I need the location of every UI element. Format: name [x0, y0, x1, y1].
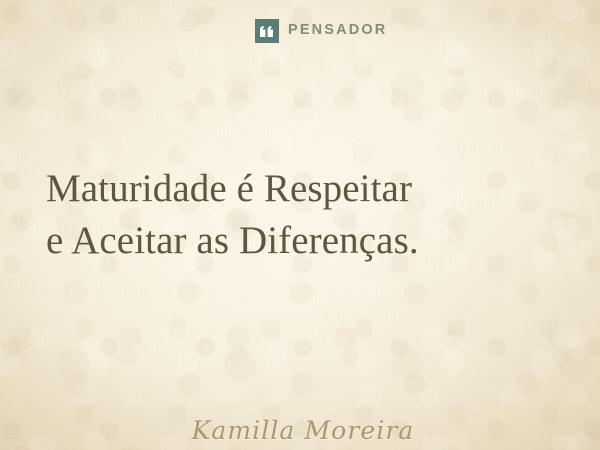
quote-line-2: e Aceitar as Diferenças. — [46, 215, 566, 267]
quote-text: Maturidade é Respeitar e Aceitar as Dife… — [46, 163, 566, 267]
quote-mark-icon — [255, 19, 279, 43]
author-name[interactable]: Kamilla Moreira — [0, 414, 600, 448]
pensador-logo[interactable]: PENSADOR — [255, 19, 387, 43]
quote-card: PENSADOR Maturidade é Respeitar e Aceita… — [0, 0, 600, 450]
quote-line-1: Maturidade é Respeitar — [46, 163, 566, 215]
pensador-wordmark: PENSADOR — [288, 23, 387, 39]
